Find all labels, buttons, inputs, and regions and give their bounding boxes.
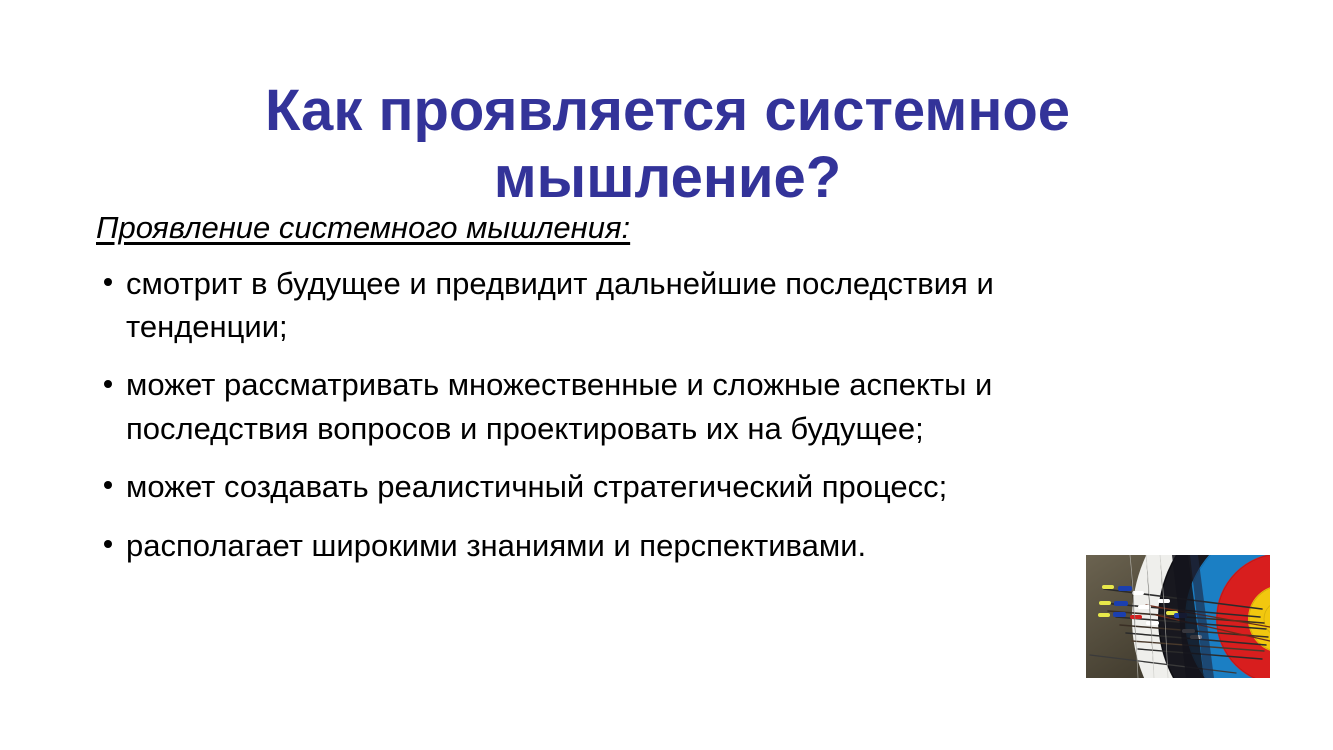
slide: Как проявляется системное мышление? Проя… <box>0 0 1333 750</box>
list-item: может создавать реалистичный стратегичес… <box>96 465 1136 508</box>
bullet-dot-icon <box>104 481 112 489</box>
bullet-dot-icon <box>104 540 112 548</box>
lead-line-text: Проявление системного мышления: <box>96 210 630 245</box>
list-item: располагает широкими знаниями и перспект… <box>96 524 1136 567</box>
list-item-text: смотрит в будущее и предвидит дальнейшие… <box>126 266 994 344</box>
archery-target-photo <box>1086 555 1270 678</box>
content-body: Проявление системного мышления: смотрит … <box>96 208 1136 567</box>
archery-target-illustration <box>1086 555 1270 678</box>
bullet-dot-icon <box>104 380 112 388</box>
list-item: может рассматривать множественные и слож… <box>96 363 1136 450</box>
page-title: Как проявляется системное мышление? <box>120 77 1215 212</box>
list-item-text: может рассматривать множественные и слож… <box>126 367 992 445</box>
bullet-list: смотрит в будущее и предвидит дальнейшие… <box>96 262 1136 567</box>
list-item-text: может создавать реалистичный стратегичес… <box>126 469 947 504</box>
list-item: смотрит в будущее и предвидит дальнейшие… <box>96 262 1136 349</box>
list-item-text: располагает широкими знаниями и перспект… <box>126 528 866 563</box>
lead-line: Проявление системного мышления: <box>96 208 1136 248</box>
bullet-dot-icon <box>104 278 112 286</box>
